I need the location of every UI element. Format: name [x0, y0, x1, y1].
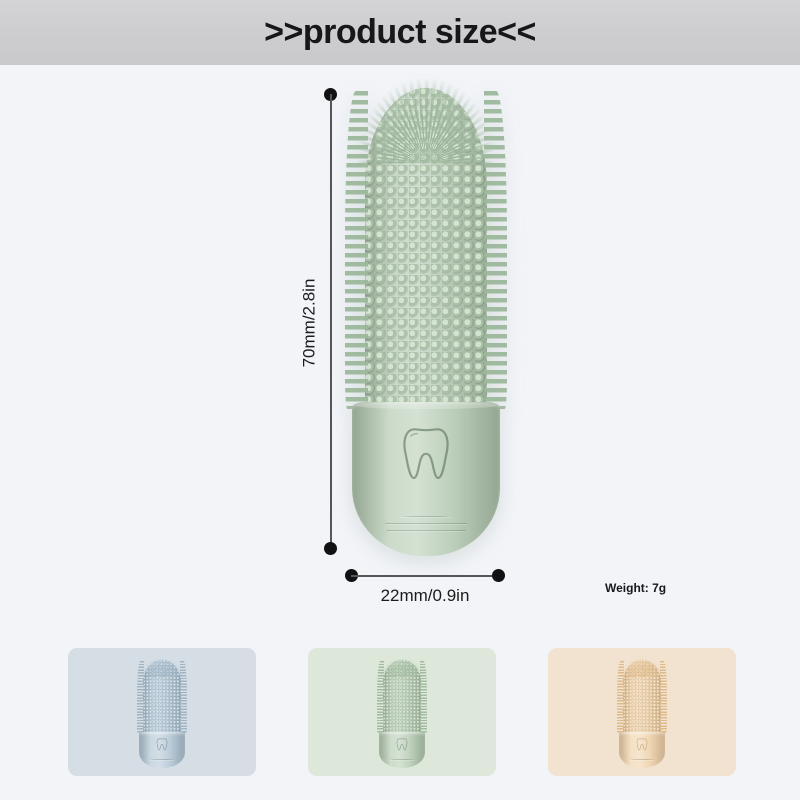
brush-handle: [619, 732, 665, 768]
width-dimension-endpoint-right: [492, 569, 505, 582]
weight-label: Weight: 7g: [605, 581, 666, 595]
height-dimension-endpoint-bottom: [324, 542, 337, 555]
brush-bristles-crown: [358, 78, 494, 163]
handle-grip-ridges: [385, 516, 468, 536]
width-dimension-label: 22mm/0.9in: [351, 586, 499, 606]
product-illustration-beige: [619, 660, 665, 768]
brush-handle: [379, 732, 425, 768]
variant-card-beige[interactable]: [548, 648, 736, 776]
handle-grip-ridges: [149, 759, 175, 764]
product-illustration-main: [352, 88, 500, 556]
tooth-icon: [396, 426, 455, 482]
variant-card-blue[interactable]: [68, 648, 256, 776]
brush-bristles-crown: [621, 658, 663, 678]
product-size-infographic: >>product size<< 70mm/2.8in: [0, 0, 800, 800]
product-illustration-blue: [139, 660, 185, 768]
height-dimension-label-text: 70mm/2.8in: [299, 279, 319, 368]
brush-head: [352, 88, 500, 416]
tooth-icon: [633, 738, 651, 751]
header-banner: >>product size<<: [0, 0, 800, 65]
brush-head: [379, 660, 425, 736]
hero-stage: 70mm/2.8in: [0, 65, 800, 620]
brush-handle: [139, 732, 185, 768]
brush-bristles-crown: [381, 658, 423, 678]
tooth-icon: [393, 738, 411, 751]
brush-handle: [352, 402, 500, 556]
handle-shoulder: [380, 732, 424, 734]
brush-head: [139, 660, 185, 736]
width-dimension-line: [351, 569, 499, 582]
height-dimension-line: [324, 94, 337, 549]
handle-shoulder: [140, 732, 184, 734]
width-dimension-rule: [351, 575, 499, 577]
page-title: >>product size<<: [264, 13, 536, 52]
height-dimension-label: 70mm/2.8in: [296, 258, 322, 388]
brush-bristles-crown: [141, 658, 183, 678]
brush-head: [619, 660, 665, 736]
handle-shoulder: [355, 402, 497, 410]
handle-shoulder: [620, 732, 664, 734]
handle-grip-ridges: [389, 759, 415, 764]
variant-thumbnail-row: [0, 648, 800, 778]
tooth-icon: [153, 738, 171, 751]
height-dimension-rule: [330, 94, 332, 549]
variant-card-green[interactable]: [308, 648, 496, 776]
product-illustration-green: [379, 660, 425, 768]
handle-grip-ridges: [629, 759, 655, 764]
